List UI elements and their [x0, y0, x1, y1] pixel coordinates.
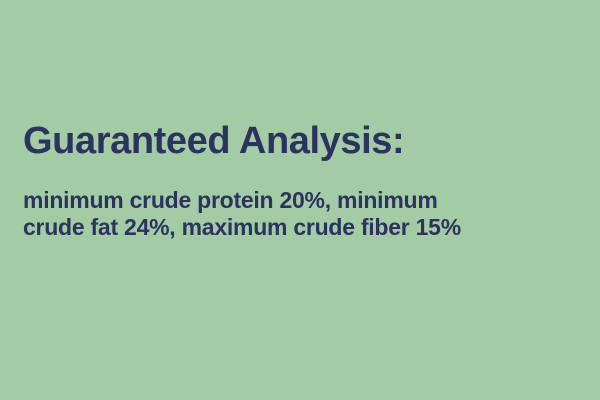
guaranteed-analysis-card: Guaranteed Analysis: minimum crude prote… [0, 0, 600, 400]
guaranteed-analysis-body: minimum crude protein 20%, minimum crude… [23, 187, 588, 241]
body-line-1: minimum crude protein 20%, minimum [23, 187, 588, 214]
text-block: Guaranteed Analysis: minimum crude prote… [23, 118, 588, 241]
body-line-2: crude fat 24%, maximum crude fiber 15% [23, 214, 588, 241]
page-title: Guaranteed Analysis: [23, 118, 588, 165]
